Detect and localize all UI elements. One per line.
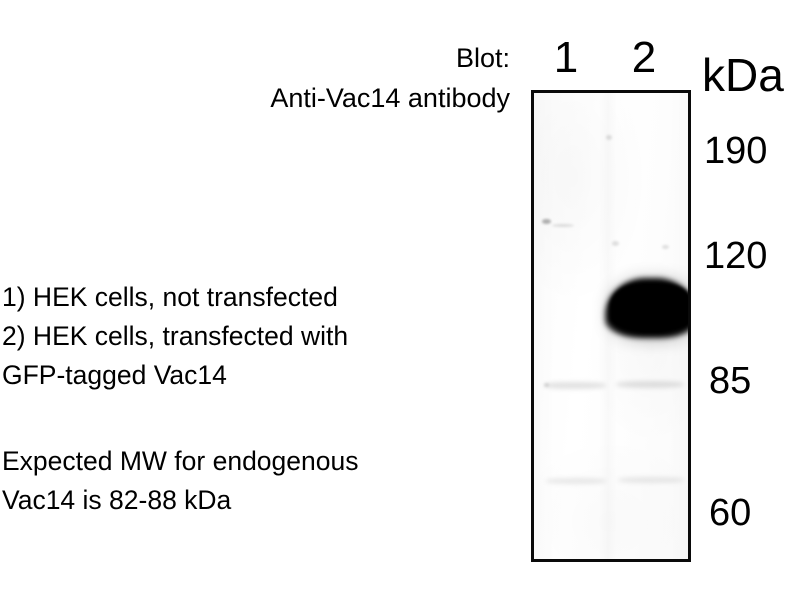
western-blot-figure: Blot: Anti-Vac14 antibody 1 2 kDa 190 12… (0, 0, 800, 600)
legend-line-3: GFP-tagged Vac14 (2, 362, 227, 389)
blot-panel (531, 90, 691, 562)
mw-marker-60: 60 (709, 494, 751, 532)
artifact-speck-2 (552, 224, 574, 227)
expected-mw-line-1: Expected MW for endogenous (2, 448, 358, 475)
antibody-label: Anti-Vac14 antibody (200, 85, 510, 112)
nonspecific-band-lane2-85 (616, 381, 684, 388)
lane-number-2: 2 (622, 36, 666, 80)
mw-marker-190: 190 (704, 132, 767, 170)
artifact-speck-5 (662, 245, 669, 249)
artifact-speck-3 (606, 135, 612, 140)
artifact-speck-4 (612, 241, 619, 246)
nonspecific-band-lane1-62 (546, 478, 606, 484)
legend-line-1: 1) HEK cells, not transfected (2, 284, 338, 311)
legend-line-2: 2) HEK cells, transfected with (2, 323, 348, 350)
kda-units-label: kDa (702, 52, 784, 98)
artifact-speck-1 (542, 219, 551, 224)
blot-label: Blot: (200, 45, 510, 72)
gfp-vac14-band-core (610, 284, 691, 330)
mw-marker-85: 85 (709, 362, 751, 400)
expected-mw-line-2: Vac14 is 82-88 kDa (2, 487, 231, 514)
mw-marker-120: 120 (704, 237, 767, 275)
artifact-speck-6 (544, 383, 549, 387)
lane-number-1: 1 (544, 36, 588, 80)
nonspecific-band-lane1-85 (544, 382, 606, 389)
nonspecific-band-lane2-62 (618, 477, 684, 483)
